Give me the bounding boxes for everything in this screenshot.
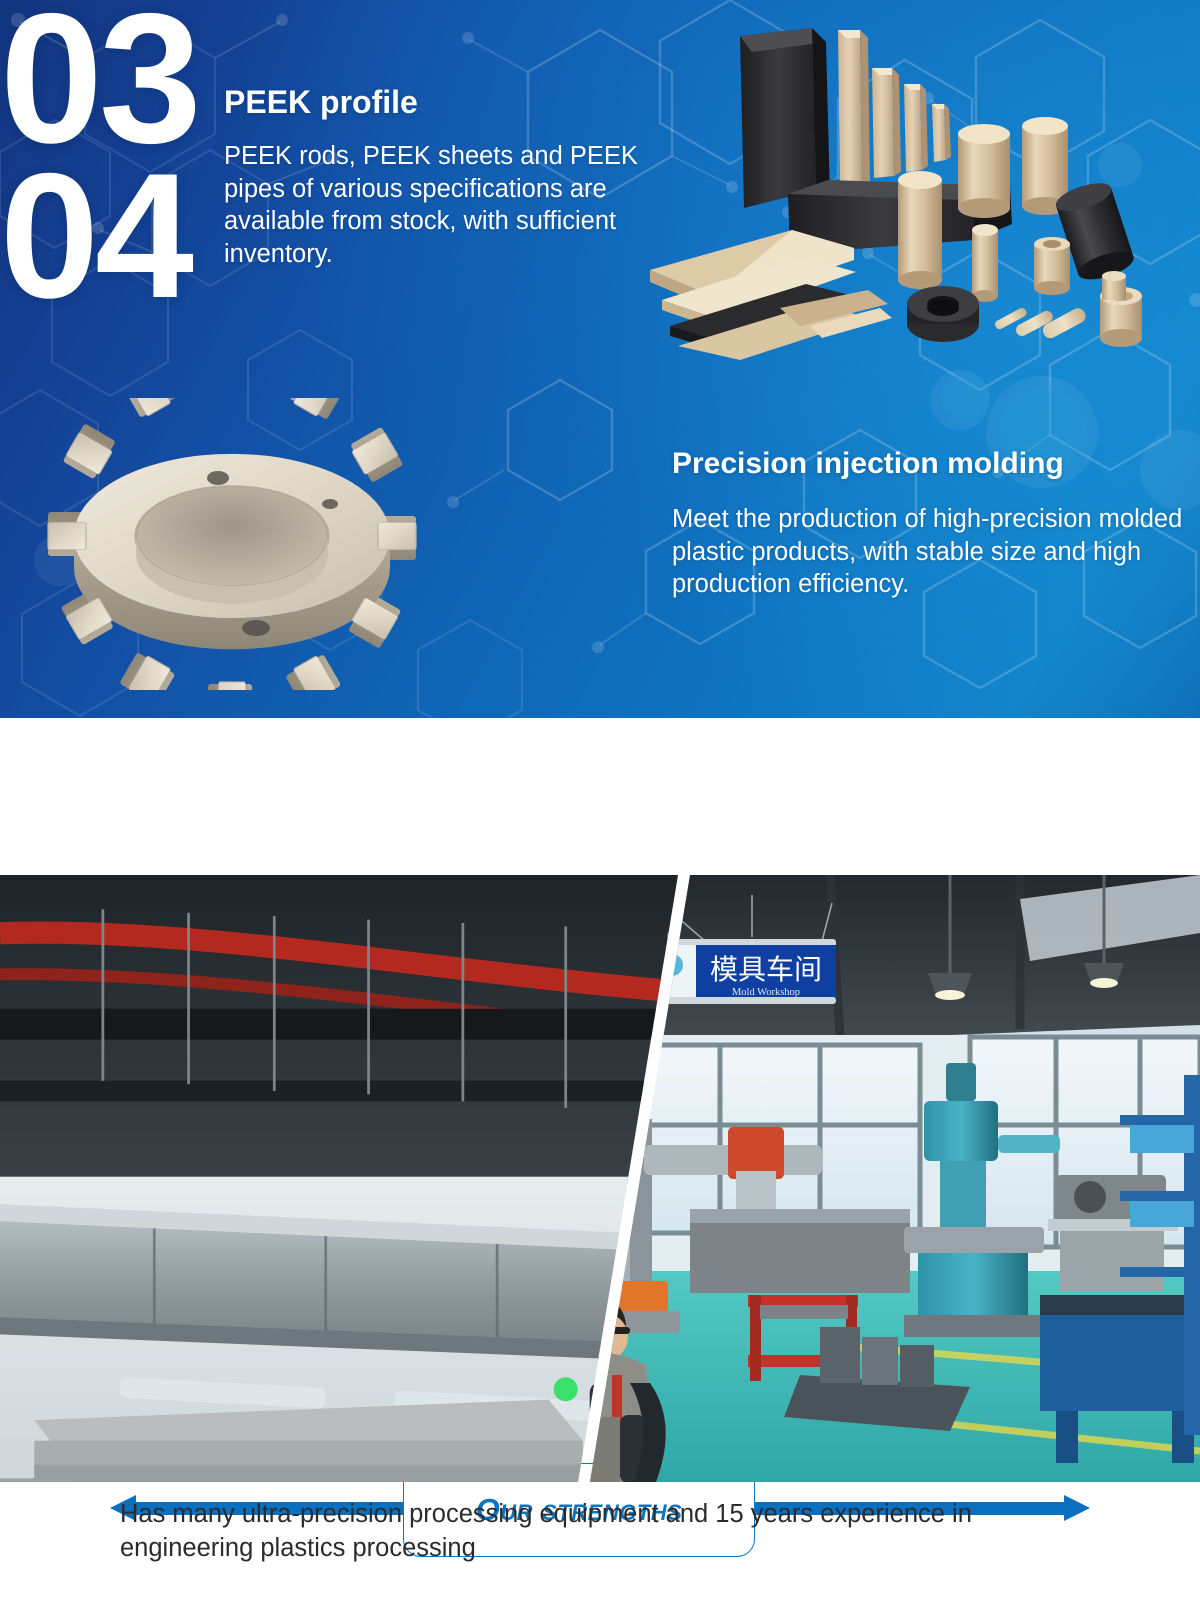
features-blue-panel: 03 PEEK profile PEEK rods, PEEK sheets a… [0,0,1200,718]
sign-english-text: Mold Workshop [732,987,800,998]
peek-profile-products-photo [640,8,1192,363]
our-strengths-banner: Our strengths [0,718,1200,870]
peek-gear-ring-photo [22,398,442,690]
block-title-04: Precision injection molding [672,447,1064,481]
workshop-photo-gallery: 模具车间 Mold Workshop [0,875,1200,1482]
sign-chinese-text: 模具车间 [710,953,822,986]
block-body-03: PEEK rods, PEEK sheets and PEEK pipes of… [224,140,654,271]
block-title-03: PEEK profile [224,84,418,121]
block-body-04: Meet the production of high-precision mo… [672,503,1192,601]
gallery-caption: Has many ultra-precision processing equi… [120,1498,1100,1566]
